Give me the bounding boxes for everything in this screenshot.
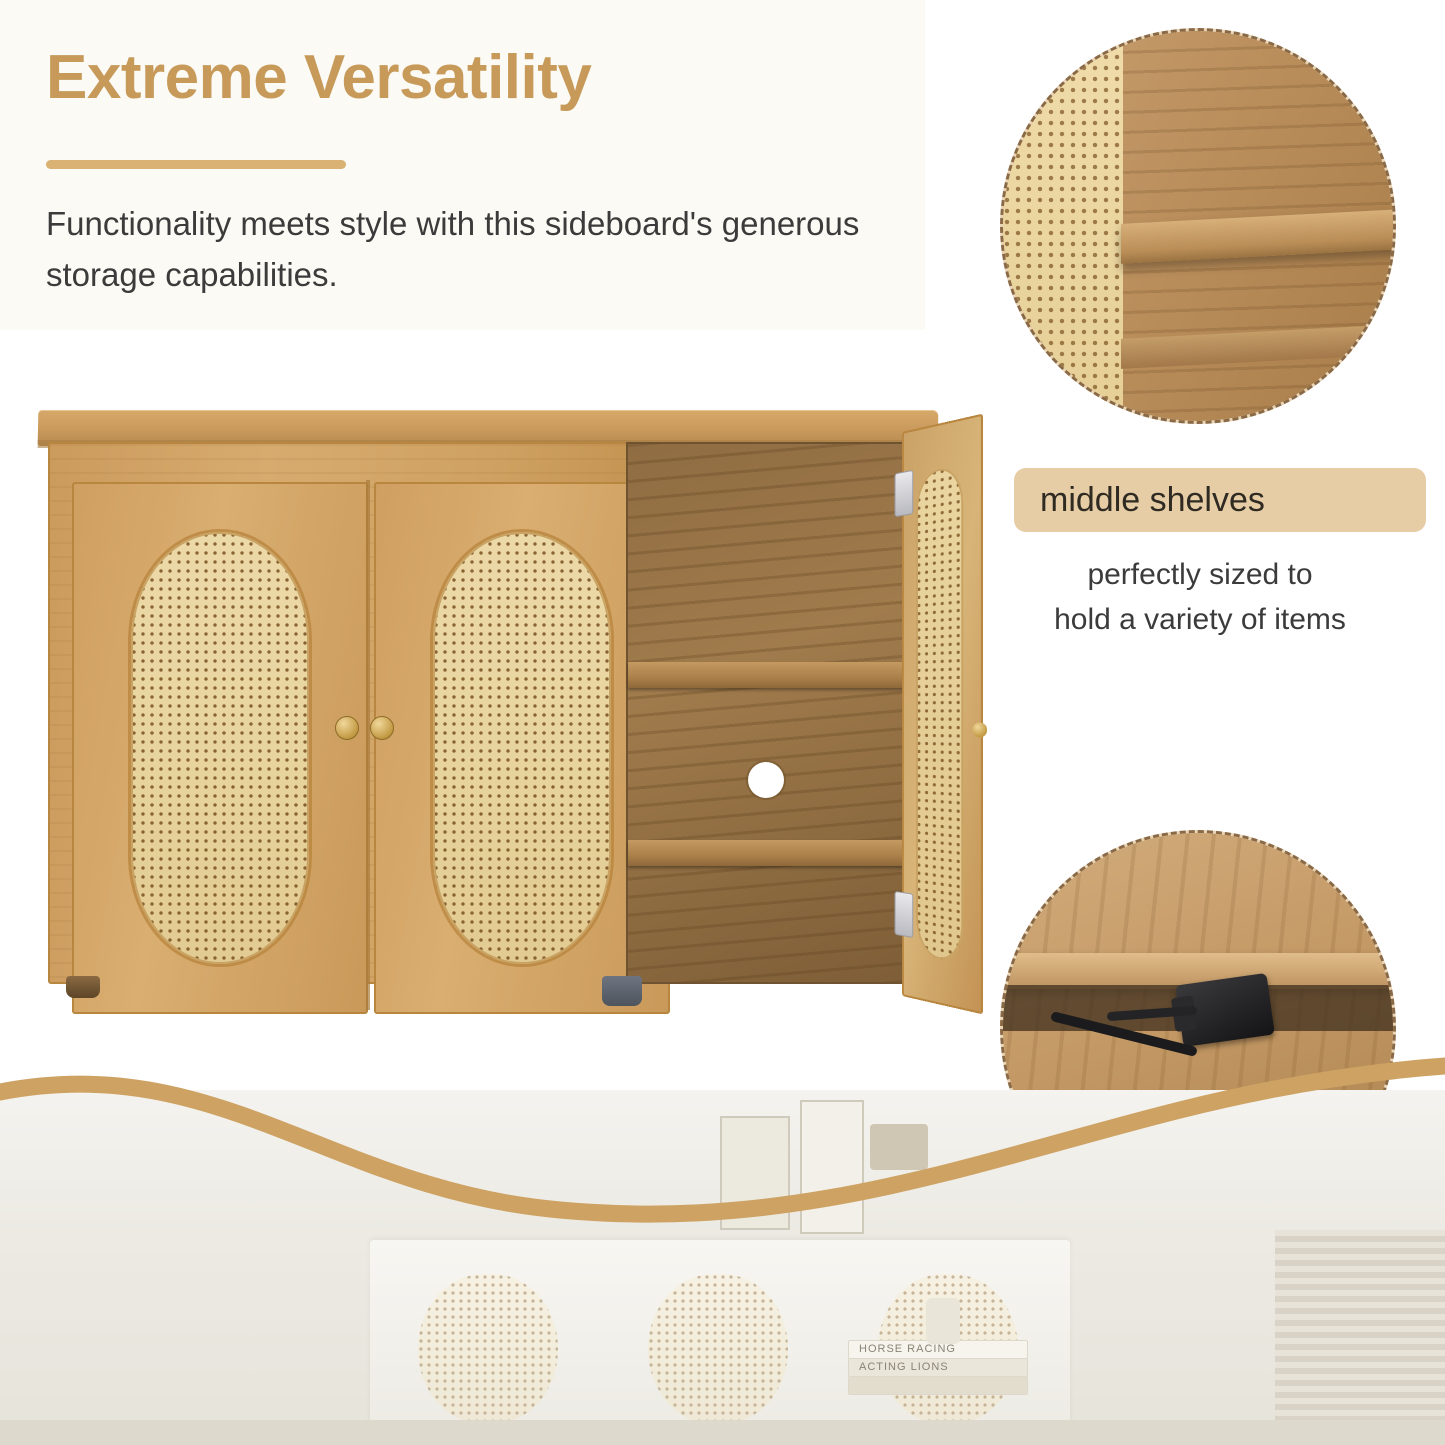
door-knob: [370, 716, 394, 740]
callout-body-middle-shelves: perfectly sized to hold a variety of ite…: [1000, 552, 1400, 642]
book-title: ACTING LIONS: [859, 1361, 949, 1373]
callout-line: hold a variety of items: [1000, 597, 1400, 642]
rattan-cane-panel: [418, 1274, 558, 1424]
product-photo: [0, 330, 985, 1090]
title-underline: [46, 160, 346, 169]
page-title: Extreme Versatility: [46, 42, 591, 113]
callout-label-middle-shelves: middle shelves: [1014, 468, 1426, 532]
door-seam: [366, 480, 370, 1010]
rattan-cane-panel: [1003, 31, 1123, 421]
framed-art: [720, 1116, 790, 1230]
lifestyle-room-scene: HORSE RACING ACTING LIONS: [0, 1090, 1445, 1445]
cable-management-hole: [748, 762, 784, 798]
book-stack: HORSE RACING ACTING LIONS: [848, 1340, 1026, 1392]
cabinet-foot: [66, 976, 100, 998]
book: ACTING LIONS: [848, 1358, 1028, 1377]
header-subtext: Functionality meets style with this side…: [46, 198, 876, 300]
rattan-cane-panel: [916, 464, 963, 964]
book-title: HORSE RACING: [859, 1343, 956, 1355]
cabinet-door-right-open: [902, 414, 983, 1015]
product-infographic-page: Extreme Versatility Functionality meets …: [0, 0, 1445, 1445]
door-knob: [973, 722, 988, 737]
rattan-cane-panel: [648, 1274, 788, 1424]
door-knob: [335, 716, 359, 740]
hinge-icon: [895, 470, 914, 517]
wall-slat-panel: [1275, 1230, 1445, 1445]
floor-line: [0, 1420, 1445, 1445]
table-lamp: [860, 1124, 940, 1230]
cabinet-left-body: [48, 442, 632, 984]
cabinet-open-interior: [626, 442, 912, 984]
header-block: Extreme Versatility Functionality meets …: [0, 0, 925, 330]
cabinet-foot: [602, 976, 642, 1006]
hinge-icon: [895, 891, 914, 938]
sideboard-cabinet: [30, 410, 950, 1020]
rattan-cane-panel: [433, 532, 611, 964]
vase: [926, 1298, 960, 1344]
detail-photo-middle-shelves: [1000, 28, 1396, 424]
lower-shelf: [628, 840, 910, 866]
cabinet-door-left: [72, 482, 368, 1014]
cabinet-top-panel: [38, 410, 939, 446]
sideboard-in-room: HORSE RACING ACTING LIONS: [370, 1240, 1070, 1445]
book: [848, 1376, 1028, 1395]
detail-photo-inner: [1003, 31, 1393, 421]
rattan-cane-panel: [131, 532, 309, 964]
callout-line: perfectly sized to: [1000, 552, 1400, 597]
middle-shelf: [628, 662, 910, 688]
framed-art: [800, 1100, 864, 1234]
